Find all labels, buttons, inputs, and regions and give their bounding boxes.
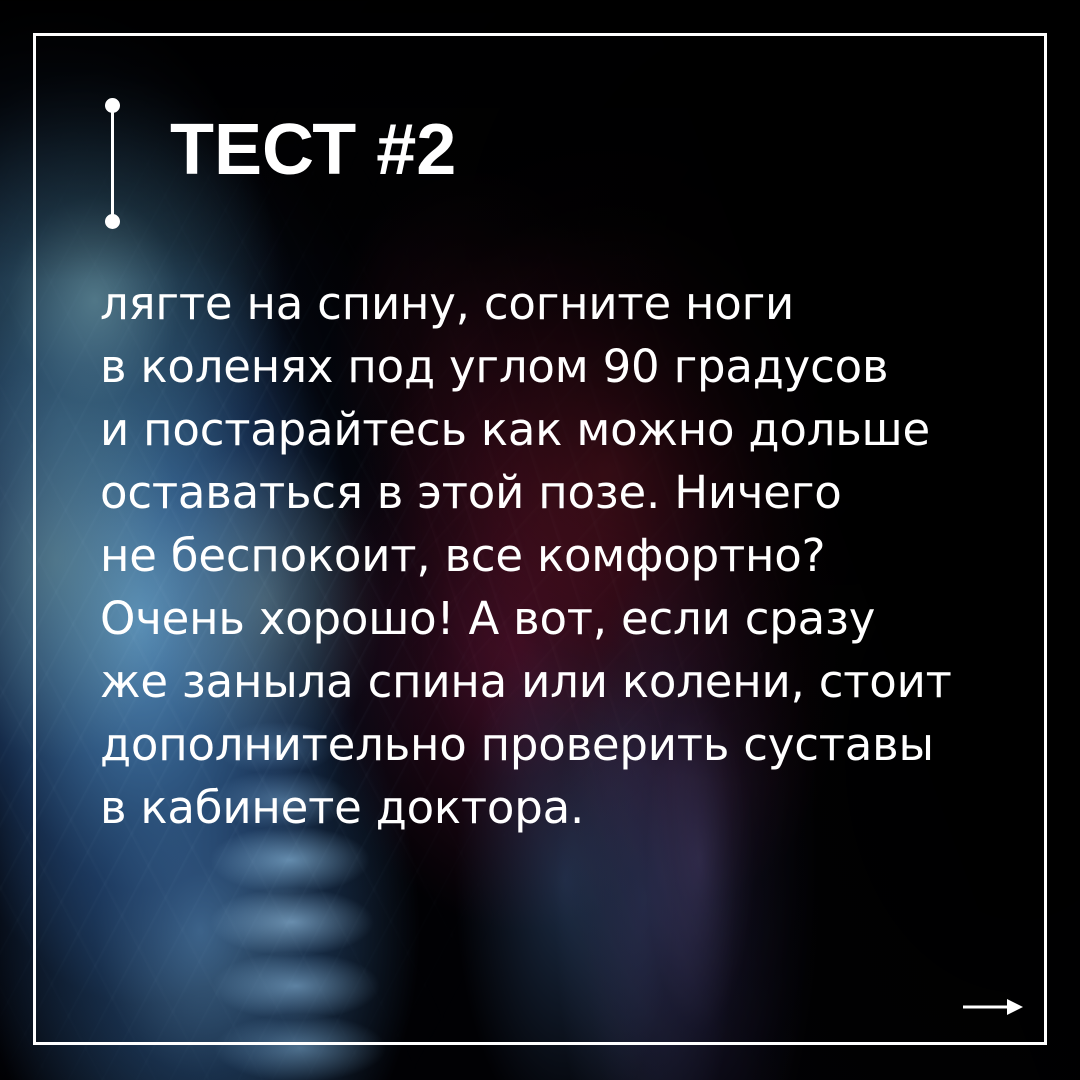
body-line: лягте на спину, согните ноги xyxy=(100,272,980,335)
body-line: в кабинете доктора. xyxy=(100,776,980,839)
next-arrow-icon[interactable] xyxy=(963,996,1023,1018)
body-line: же заныла спина или колени, стоит xyxy=(100,650,980,713)
rule-line-icon xyxy=(111,104,114,216)
body-line: и постарайтесь как можно дольше xyxy=(100,398,980,461)
slide-canvas: ТЕСТ #2 лягте на спину, согните ноги в к… xyxy=(0,0,1080,1080)
body-line: Очень хорошо! А вот, если сразу xyxy=(100,587,980,650)
body-line: в коленях под углом 90 градусов xyxy=(100,335,980,398)
title-block: ТЕСТ #2 xyxy=(100,96,456,234)
rule-dot-bottom-icon xyxy=(105,214,120,229)
page-title: ТЕСТ #2 xyxy=(170,114,456,186)
body-line: оставаться в этой позе. Ничего xyxy=(100,461,980,524)
title-accent-rule xyxy=(100,96,126,224)
body-line: дополнительно проверить суставы xyxy=(100,713,980,776)
body-copy: лягте на спину, согните ноги в коленях п… xyxy=(100,272,980,839)
body-line: не беспокоит, все комфортно? xyxy=(100,524,980,587)
